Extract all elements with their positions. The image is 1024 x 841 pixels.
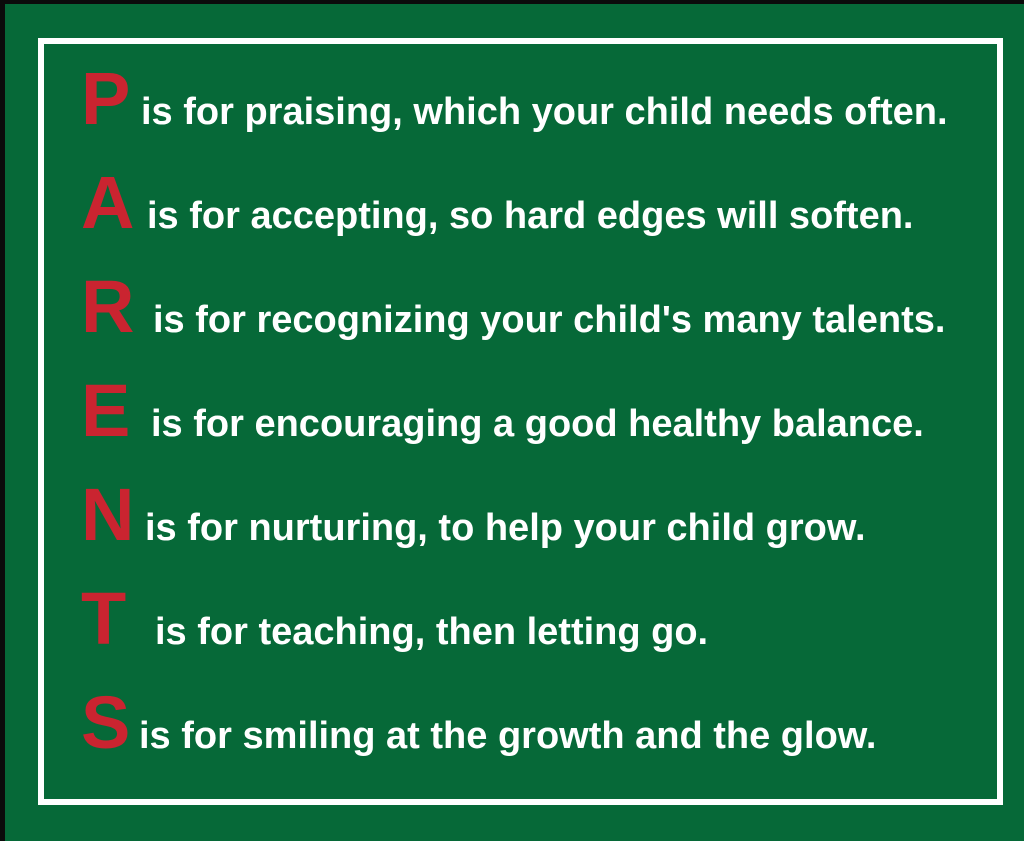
poem-line: T is for teaching, then letting go. <box>5 582 1024 686</box>
poem-line: E is for encouraging a good healthy bala… <box>5 374 1024 478</box>
poem-line-text: is for accepting, so hard edges will sof… <box>147 197 914 235</box>
poem-line-text: is for praising, which your child needs … <box>141 93 948 131</box>
acrostic-initial-e: E <box>81 374 133 448</box>
poem-line: P is for praising, which your child need… <box>5 62 1024 166</box>
acrostic-initial-a: A <box>81 166 133 240</box>
poem-line-text: is for recognizing your child's many tal… <box>153 301 945 339</box>
acrostic-initial-t: T <box>81 582 133 656</box>
acrostic-initial-s: S <box>81 686 133 760</box>
poem-line-text: is for teaching, then letting go. <box>155 613 708 651</box>
acrostic-initial-r: R <box>81 270 133 344</box>
acrostic-initial-p: P <box>81 62 133 136</box>
poem-line-text: is for nurturing, to help your child gro… <box>145 509 866 547</box>
poem-line-text: is for encouraging a good healthy balanc… <box>151 405 924 443</box>
poem-line: S is for smiling at the growth and the g… <box>5 686 1024 790</box>
poem-line-text: is for smiling at the growth and the glo… <box>139 717 877 755</box>
poster-canvas: P is for praising, which your child need… <box>0 0 1024 841</box>
poem-line: R is for recognizing your child's many t… <box>5 270 1024 374</box>
poem-line: N is for nurturing, to help your child g… <box>5 478 1024 582</box>
acrostic-poem: P is for praising, which your child need… <box>5 4 1024 841</box>
poem-line: A is for accepting, so hard edges will s… <box>5 166 1024 270</box>
acrostic-initial-n: N <box>81 478 133 552</box>
